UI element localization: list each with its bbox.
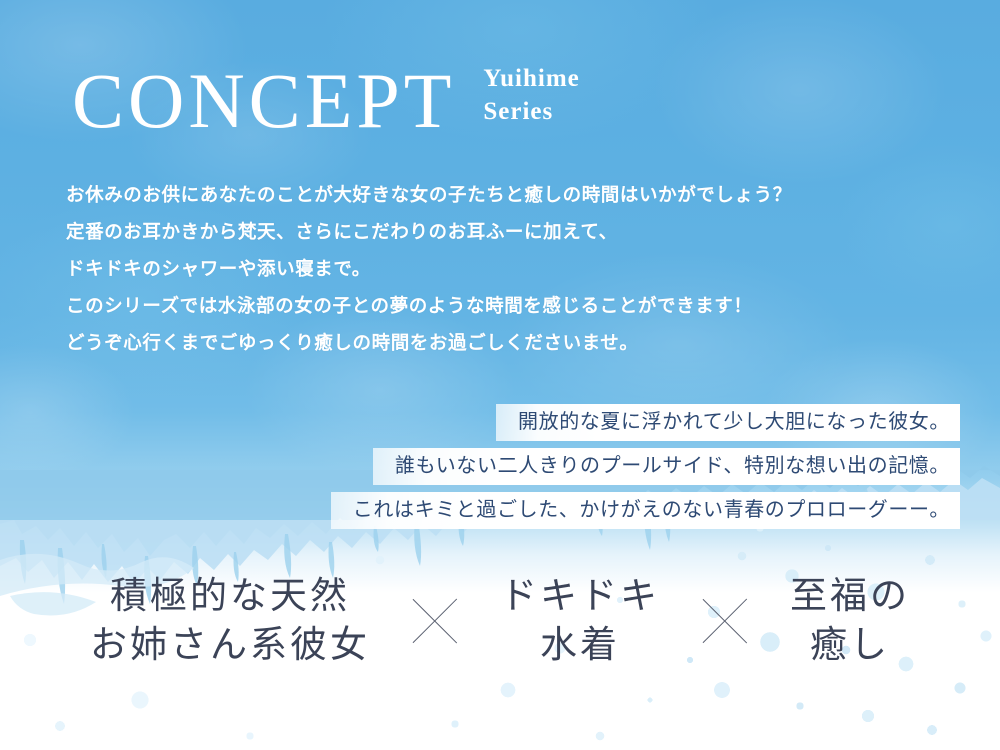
keyword-line-1: 至福の — [790, 576, 910, 617]
catch-copy-line: これはキミと過ごした、かけがえのない青春のプロローグーー。 — [331, 492, 960, 529]
keyword-block: 積極的な天然 お姉さん系彼女 — [90, 572, 370, 670]
page-title: CONCEPT — [72, 62, 455, 140]
catch-copy-line: 誰もいない二人きりのプールサイド、特別な想い出の記憶。 — [373, 448, 960, 485]
keyword-line-1: ドキドキ — [500, 576, 660, 617]
catch-copy-line: 開放的な夏に浮かれて少し大胆になった彼女。 — [496, 404, 960, 441]
description-line: どうぞ心行くまでごゆっくり癒しの時間をお過ごしくださいませ。 — [66, 324, 946, 361]
page-header: CONCEPT Yuihime Series — [72, 62, 580, 140]
description-line: お休みのお供にあなたのことが大好きな女の子たちと癒しの時間はいかがでしょう？ — [66, 176, 946, 213]
keyword-line-1: 積極的な天然 — [110, 576, 350, 617]
description-line: 定番のお耳かきから梵天、さらにこだわりのお耳ふーに加えて、 — [66, 213, 946, 250]
concept-page: CONCEPT Yuihime Series お休みのお供にあなたのことが大好き… — [0, 0, 1000, 750]
keyword-line-2: 水着 — [500, 621, 660, 670]
description-line: このシリーズでは水泳部の女の子との夢のような時間を感じることができます！ — [66, 287, 946, 324]
series-line-1: Yuihime — [483, 62, 579, 95]
concept-description: お休みのお供にあなたのことが大好きな女の子たちと癒しの時間はいかがでしょう？ 定… — [66, 176, 946, 361]
cross-icon — [694, 590, 756, 652]
keyword-block: ドキドキ 水着 — [500, 572, 660, 670]
keyword-block: 至福の 癒し — [790, 572, 910, 670]
keyword-row: 積極的な天然 お姉さん系彼女 ドキドキ 水着 至福の 癒し — [0, 572, 1000, 670]
series-line-2: Series — [483, 95, 579, 128]
keyword-line-2: お姉さん系彼女 — [90, 621, 370, 670]
cross-icon — [404, 590, 466, 652]
keyword-line-2: 癒し — [790, 621, 910, 670]
series-label: Yuihime Series — [483, 62, 579, 140]
description-line: ドキドキのシャワーや添い寝まで。 — [66, 250, 946, 287]
catch-copy-banners: 開放的な夏に浮かれて少し大胆になった彼女。 誰もいない二人きりのプールサイド、特… — [0, 404, 1000, 529]
